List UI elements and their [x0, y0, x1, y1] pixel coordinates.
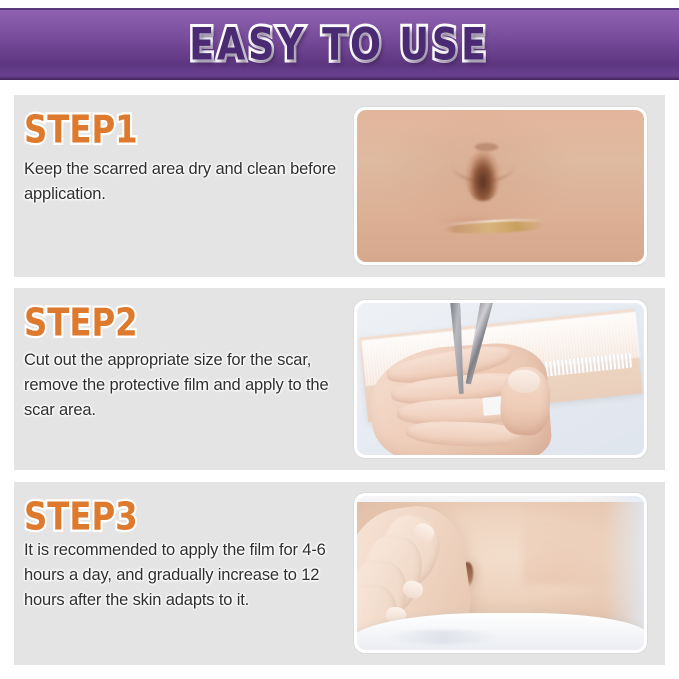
header-banner: EASY TO USE — [0, 8, 679, 80]
step-panel-2: STEP2 Cut out the appropriate size for t… — [14, 288, 665, 470]
abdomen-photo — [357, 496, 644, 650]
waistband-fold-detail — [386, 630, 501, 644]
step-3-heading: STEP3 — [24, 496, 347, 537]
step-1-photo-frame — [354, 107, 647, 265]
scar-skin-photo — [357, 110, 644, 262]
step-2-photo-frame — [354, 300, 647, 458]
step-1-description: Keep the scarred area dry and clean befo… — [24, 157, 354, 207]
step-3-text-column: STEP3 It is recommended to apply the fil… — [24, 496, 354, 613]
step-3-description: It is recommended to apply the film for … — [24, 538, 354, 613]
step-1-heading: STEP1 — [24, 109, 347, 150]
step-2-heading: STEP2 — [24, 302, 347, 343]
step-panel-1: STEP1 Keep the scarred area dry and clea… — [14, 95, 665, 277]
step-2-description: Cut out the appropriate size for the sca… — [24, 348, 354, 423]
cutting-strip-photo — [357, 303, 644, 455]
step-1-text-column: STEP1 Keep the scarred area dry and clea… — [24, 109, 354, 207]
step-2-text-column: STEP2 Cut out the appropriate size for t… — [24, 302, 354, 423]
page-title: EASY TO USE — [190, 22, 490, 67]
step-3-photo-frame — [354, 493, 647, 653]
navel-detail — [466, 151, 500, 201]
step-panel-3: STEP3 It is recommended to apply the fil… — [14, 482, 665, 665]
